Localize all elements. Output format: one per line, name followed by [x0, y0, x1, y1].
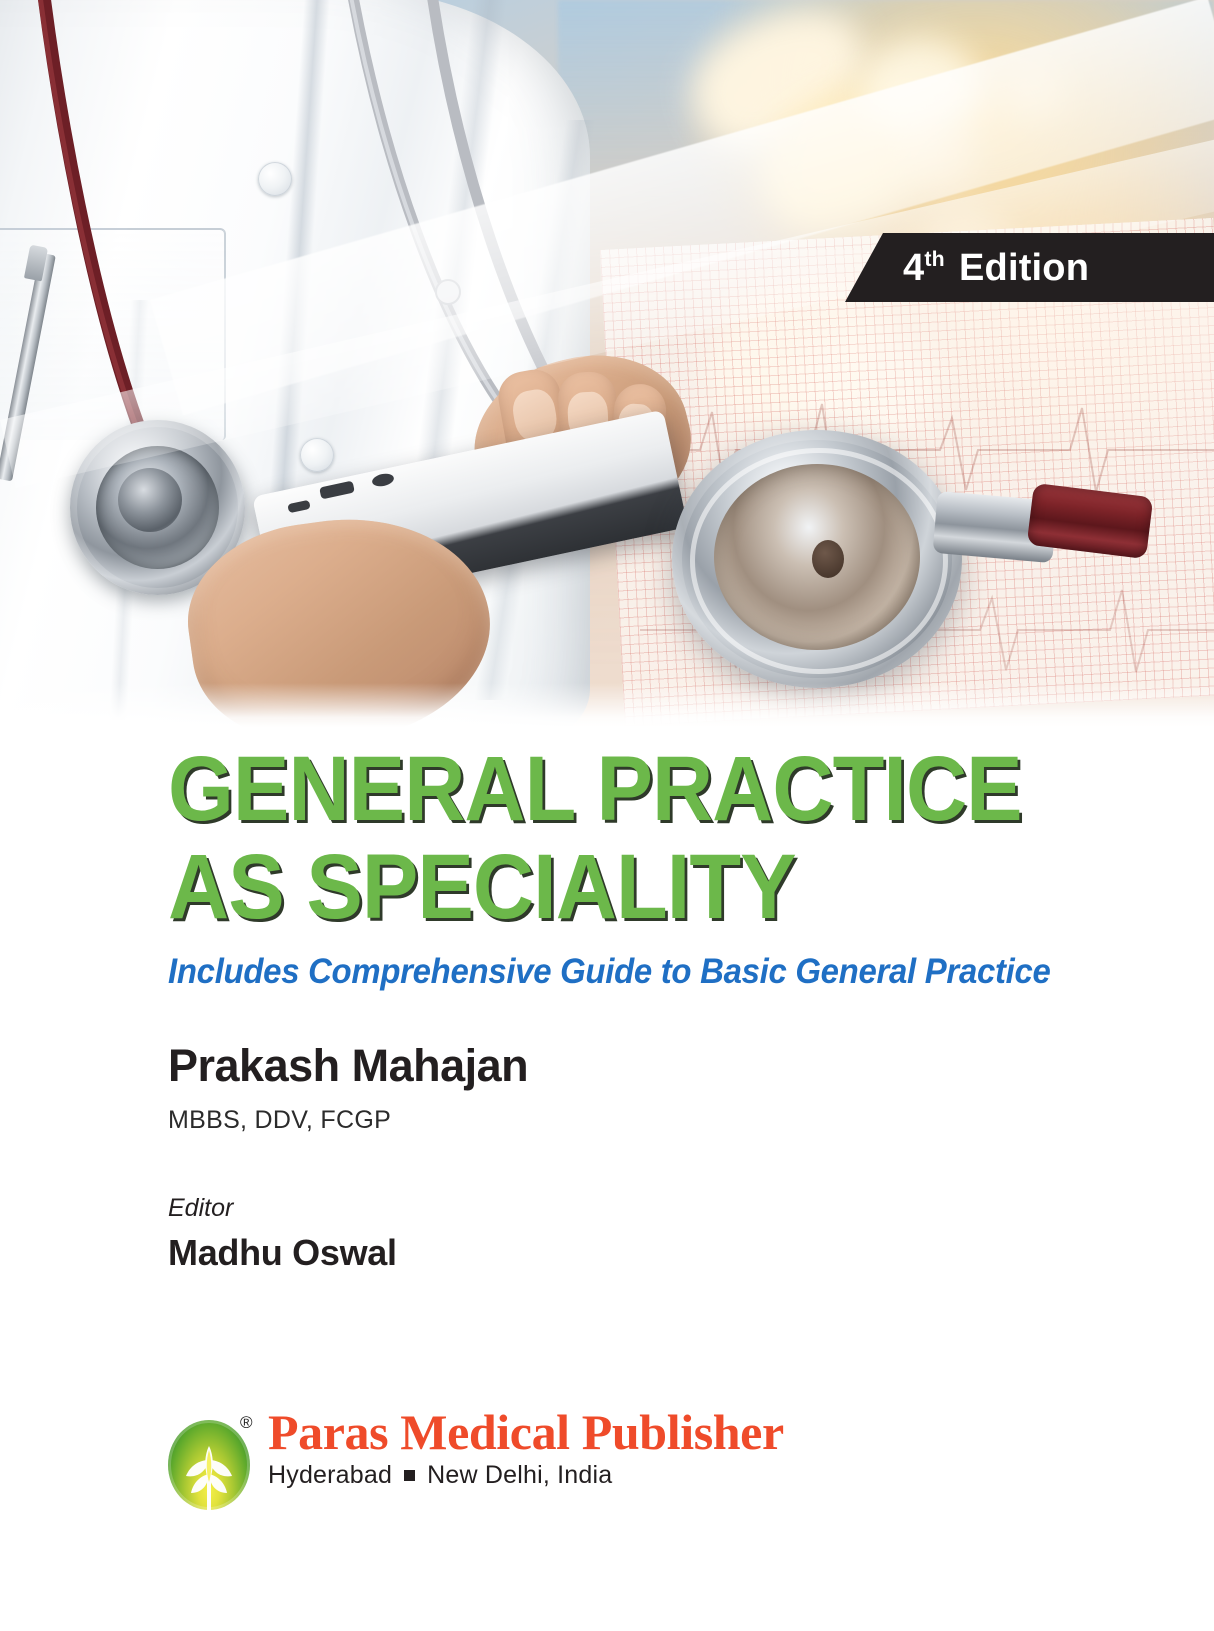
editor-label: Editor [168, 1194, 233, 1223]
editor-name: Madhu Oswal [168, 1232, 397, 1274]
registered-mark: ® [240, 1414, 253, 1431]
publisher-address: HyderabadNew Delhi, India [268, 1461, 784, 1490]
publisher-city-1: Hyderabad [268, 1461, 392, 1489]
author-name: Prakash Mahajan [168, 1040, 528, 1092]
edition-badge: 4th Edition [845, 233, 1214, 302]
address-separator-icon [404, 1470, 415, 1481]
edition-badge-label: 4th Edition [903, 249, 1089, 287]
leaf-plant-icon [168, 1420, 250, 1510]
book-title: GENERAL PRACTICE AS SPECIALITY [168, 745, 1168, 932]
stethoscope-diaphragm-small [118, 468, 182, 532]
book-subtitle: Includes Comprehensive Guide to Basic Ge… [168, 952, 1051, 992]
hero-photo [0, 0, 1214, 727]
publisher-city-2: New Delhi, India [427, 1461, 612, 1489]
stethoscope-diaphragm-center [812, 540, 844, 578]
title-line-2: AS SPECIALITY [168, 843, 1088, 931]
author-degrees: MBBS, DDV, FCGP [168, 1106, 391, 1135]
publisher-name: Paras Medical Publisher [268, 1406, 784, 1459]
publisher-block: ® Paras Medical Publisher HyderabadNew D… [168, 1406, 784, 1510]
book-cover: 4th Edition GENERAL PRACTICE AS SPECIALI… [0, 0, 1214, 1631]
hero-bottom-fade [0, 683, 1214, 727]
title-line-1: GENERAL PRACTICE [168, 745, 1088, 833]
edition-ordinal: th [924, 247, 944, 271]
edition-number: 4 [903, 247, 924, 289]
publisher-text: Paras Medical Publisher HyderabadNew Del… [268, 1406, 784, 1490]
publisher-logo: ® [168, 1414, 254, 1510]
edition-word: Edition [959, 247, 1089, 289]
